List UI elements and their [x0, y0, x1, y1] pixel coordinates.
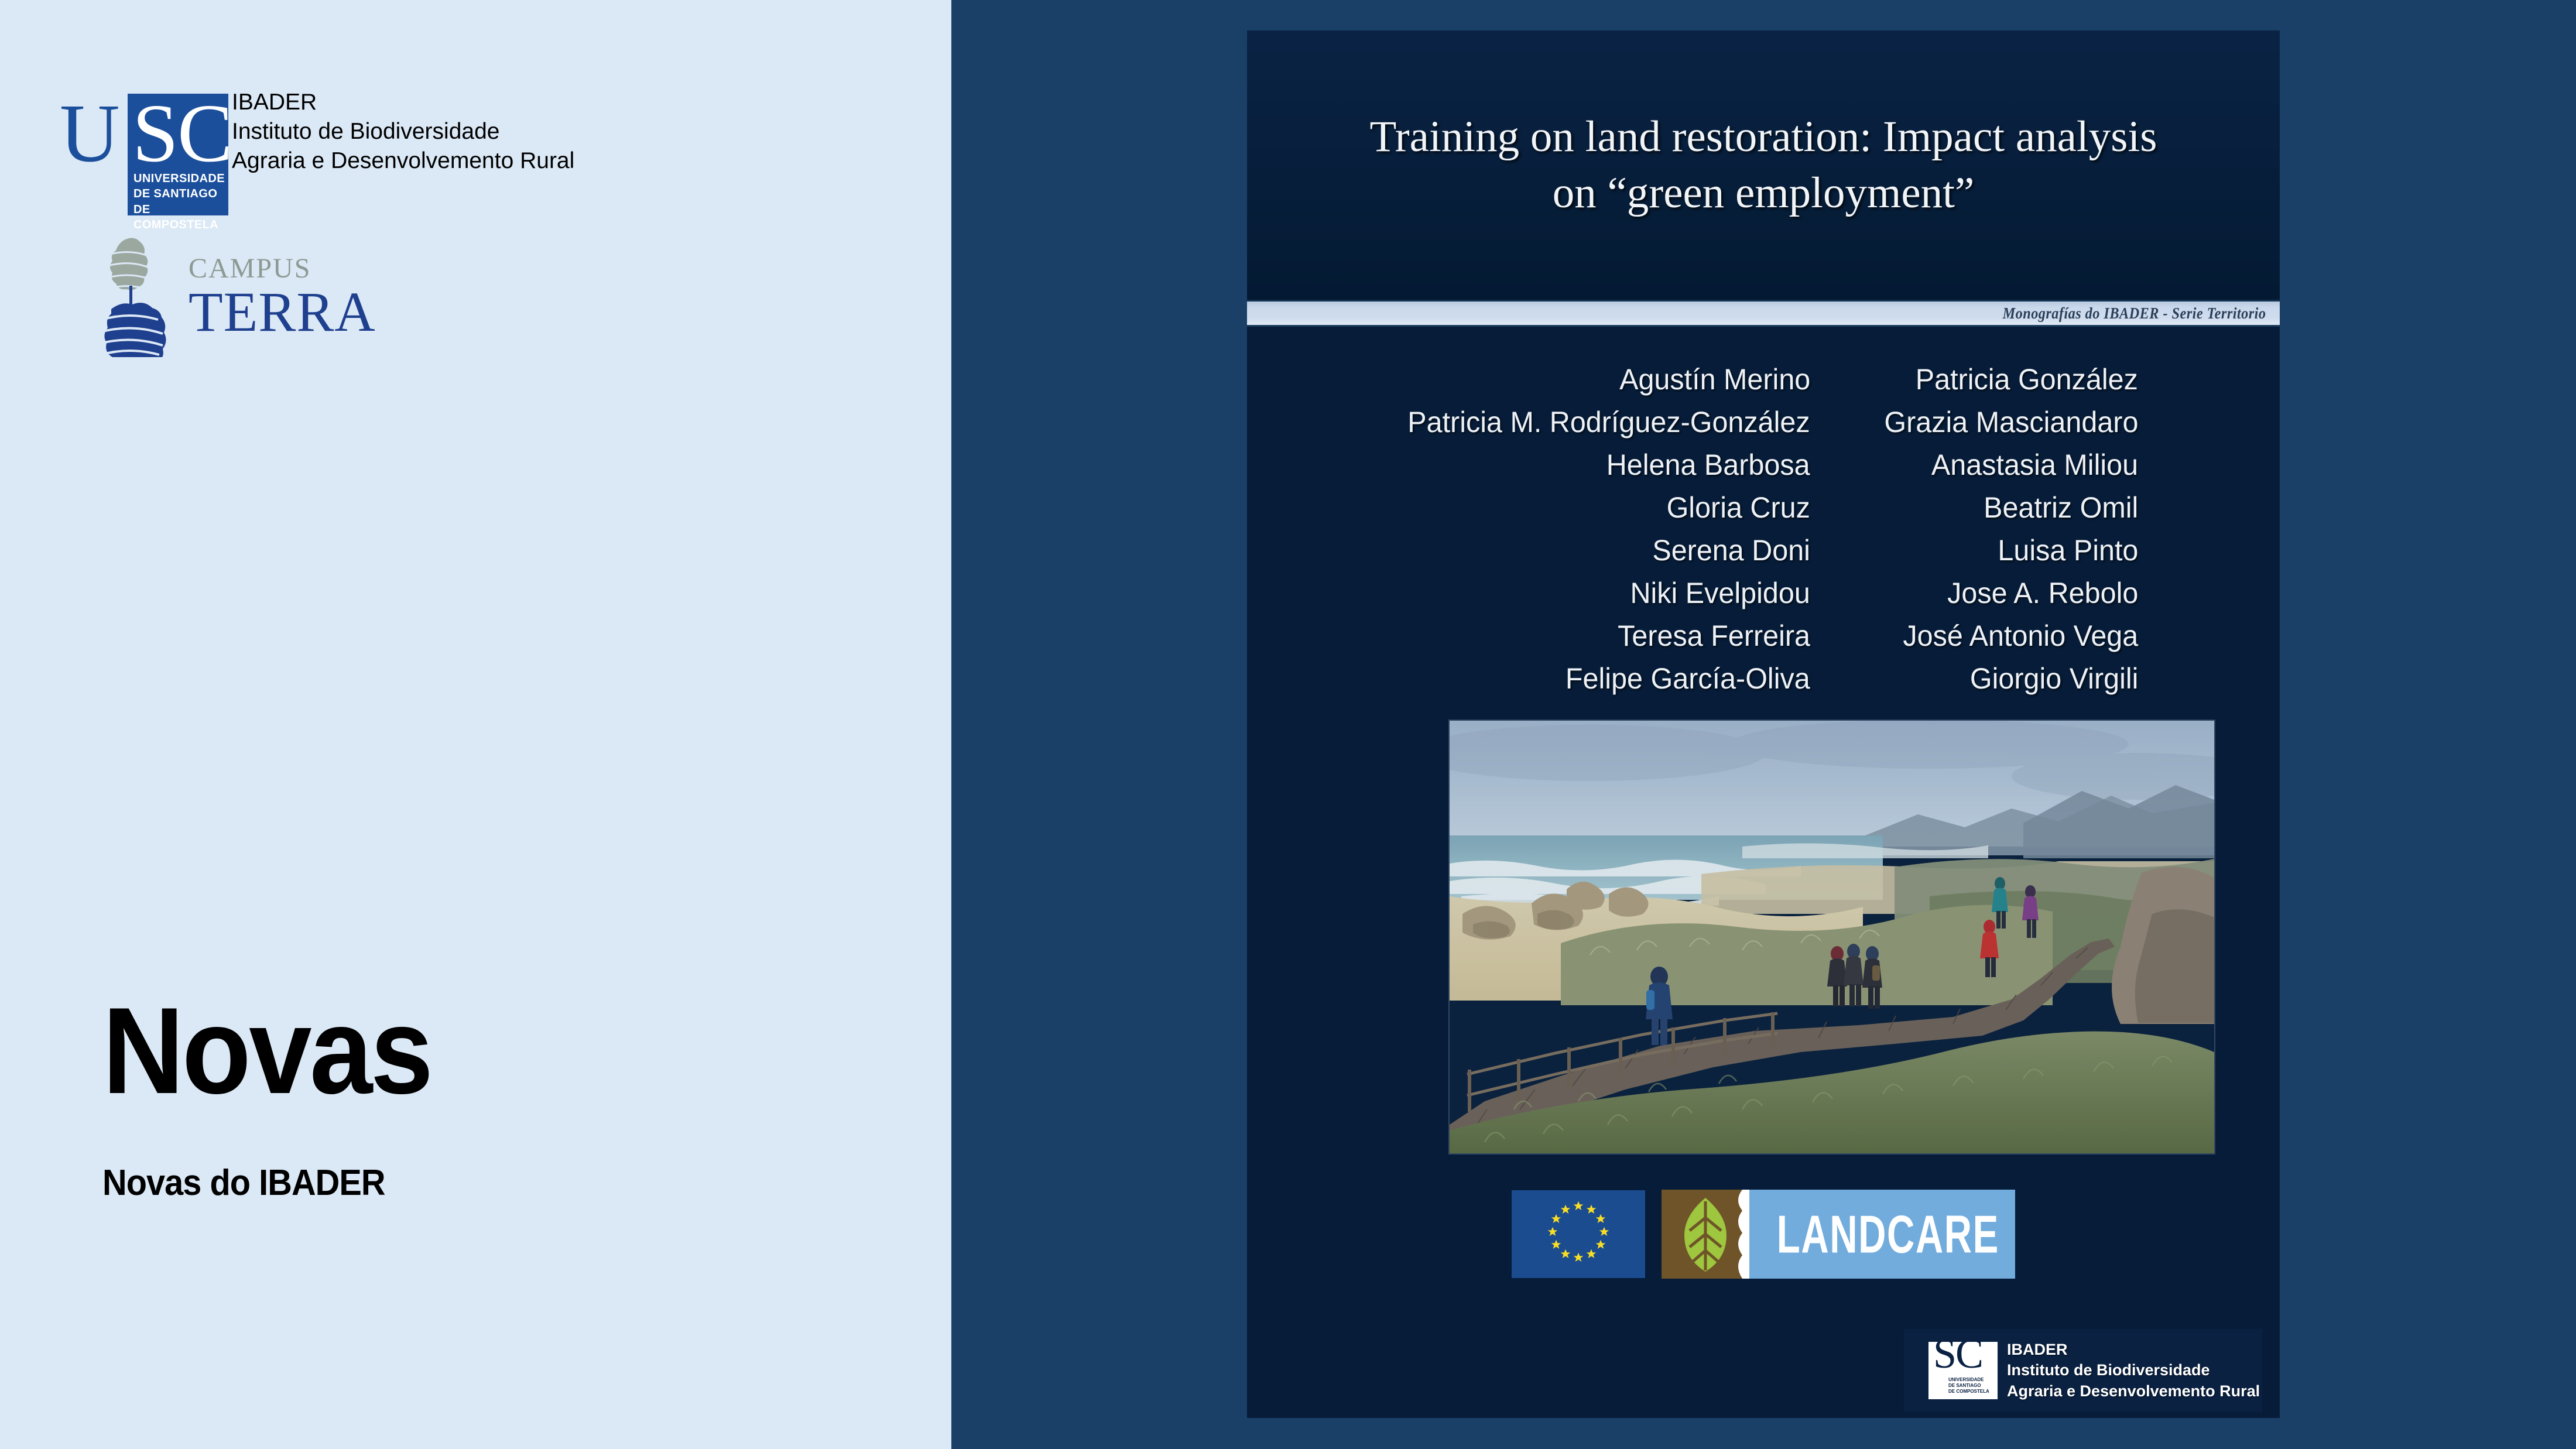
- author-column-right: Patricia González Grazia Masciandaro Ana…: [1845, 358, 2138, 700]
- ibader-line-2: Instituto de Biodiversidade: [232, 117, 574, 146]
- usc-subtitle-footer-line-2: DE SANTIAGO: [1948, 1383, 1989, 1389]
- campus-word: CAMPUS: [189, 255, 376, 283]
- ibader-footer-line-1: IBADER: [2007, 1340, 2260, 1360]
- author-list: Agustín Merino Patricia M. Rodríguez-Gon…: [1247, 358, 2280, 700]
- author-name: Agustín Merino: [1619, 358, 1810, 401]
- usc-subtitle-footer-line-3: DE COMPOSTELA: [1948, 1389, 1989, 1395]
- terra-word: TERRA: [189, 284, 376, 340]
- usc-subtitle-line-1: UNIVERSIDADE: [133, 171, 228, 186]
- ibader-wordmark: IBADER Instituto de Biodiversidade Agrar…: [232, 88, 574, 176]
- cover-footer-badge: SC UNIVERSIDADE DE SANTIAGO DE COMPOSTEL…: [1904, 1329, 2262, 1412]
- cover-photograph: [1450, 721, 2214, 1153]
- author-name: Jose A. Rebolo: [1947, 572, 2138, 615]
- usc-subtitle-footer-line-1: UNIVERSIDADE: [1948, 1377, 1989, 1383]
- series-band: Monografías do IBADER - Serie Territorio: [1247, 300, 2280, 327]
- usc-letter-u: U: [60, 91, 119, 174]
- author-name: Felipe García-Oliva: [1566, 657, 1810, 700]
- slide-root: U SC UNIVERSIDADE DE SANTIAGO DE COMPOST…: [0, 0, 2576, 1449]
- author-name: Gloria Cruz: [1667, 487, 1810, 529]
- campus-terra-wordmark: CAMPUS TERRA: [189, 255, 376, 340]
- author-name: Teresa Ferreira: [1618, 615, 1810, 657]
- usc-blue-square: SC UNIVERSIDADE DE SANTIAGO DE COMPOSTEL…: [128, 94, 228, 215]
- usc-logo-icon-footer: SC UNIVERSIDADE DE SANTIAGO DE COMPOSTEL…: [1928, 1342, 1998, 1399]
- european-union-flag-icon: [1512, 1190, 1645, 1278]
- campus-terra-logo: CAMPUS TERRA: [88, 234, 376, 357]
- cover-logo-row: LANDCARE: [1247, 1190, 2280, 1279]
- usc-letters-sc: SC: [132, 91, 232, 174]
- series-label: Monografías do IBADER - Serie Territorio: [2003, 304, 2280, 323]
- usc-ibader-lockup: U SC UNIVERSIDADE DE SANTIAGO DE COMPOST…: [59, 88, 574, 214]
- cover-title: Training on land restoration: Impact ana…: [1354, 109, 2173, 221]
- usc-subtitle: UNIVERSIDADE DE SANTIAGO DE COMPOSTELA: [133, 171, 228, 233]
- leaf-icon: [1662, 1190, 1749, 1279]
- ibader-footer-line-2: Instituto de Biodiversidade: [2007, 1360, 2260, 1381]
- ibader-line-3: Agraria e Desenvolvemento Rural: [232, 146, 574, 176]
- ibader-footer-line-3: Agraria e Desenvolvemento Rural: [2007, 1381, 2260, 1402]
- ibader-line-1: IBADER: [232, 88, 574, 117]
- author-name: Grazia Masciandaro: [1884, 401, 2138, 444]
- page-title: Novas: [102, 989, 431, 1112]
- page-subtitle: Novas do IBADER: [102, 1165, 385, 1201]
- author-name: Patricia M. Rodríguez-González: [1408, 401, 1810, 444]
- author-name: Niki Evelpidou: [1630, 572, 1810, 615]
- landcare-wordmark: LANDCARE: [1749, 1190, 2015, 1279]
- landcare-label: LANDCARE: [1765, 1204, 1999, 1265]
- author-name: Serena Doni: [1652, 529, 1810, 572]
- usc-logo-icon: U SC UNIVERSIDADE DE SANTIAGO DE COMPOST…: [59, 88, 228, 214]
- usc-letters-sc-footer: SC: [1933, 1332, 1982, 1375]
- cover-title-block: Training on land restoration: Impact ana…: [1247, 30, 2280, 300]
- author-name: Giorgio Virgili: [1969, 657, 2138, 700]
- usc-subtitle-footer: UNIVERSIDADE DE SANTIAGO DE COMPOSTELA: [1948, 1377, 1989, 1395]
- landcare-logo: LANDCARE: [1662, 1190, 2015, 1279]
- tree-icon: [88, 234, 176, 357]
- ibader-wordmark-footer: IBADER Instituto de Biodiversidade Agrar…: [2007, 1340, 2260, 1401]
- usc-white-square: SC UNIVERSIDADE DE SANTIAGO DE COMPOSTEL…: [1928, 1342, 1998, 1399]
- author-name: Patricia González: [1916, 358, 2138, 401]
- book-cover: Training on land restoration: Impact ana…: [1247, 30, 2280, 1418]
- left-panel: U SC UNIVERSIDADE DE SANTIAGO DE COMPOST…: [0, 0, 951, 1449]
- author-name: Anastasia Miliou: [1931, 444, 2138, 487]
- author-name: Luisa Pinto: [1998, 529, 2138, 572]
- author-name: Helena Barbosa: [1606, 444, 1810, 487]
- usc-subtitle-line-3: DE COMPOSTELA: [133, 202, 228, 233]
- author-column-left: Agustín Merino Patricia M. Rodríguez-Gon…: [1389, 358, 1810, 700]
- author-name: José Antonio Vega: [1903, 615, 2138, 657]
- usc-subtitle-line-2: DE SANTIAGO: [133, 186, 228, 201]
- author-name: Beatriz Omil: [1984, 487, 2138, 529]
